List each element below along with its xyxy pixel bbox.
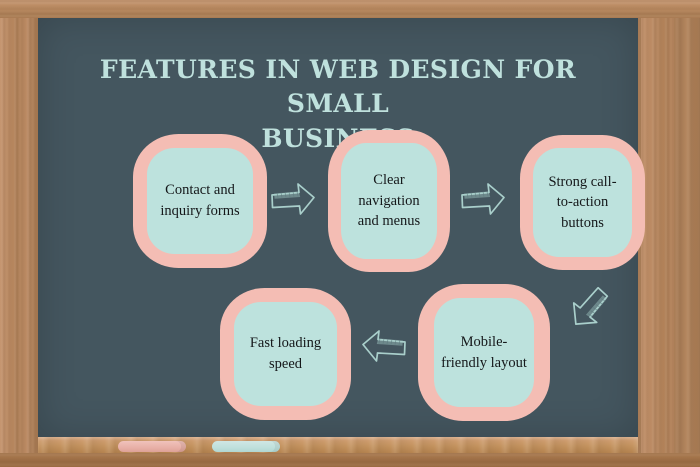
arrow-down-left-icon <box>556 276 612 337</box>
flow-step-contact[interactable]: Contact and inquiry forms <box>133 134 267 268</box>
arrow-left-icon <box>360 328 408 371</box>
flow-step-mobile-label: Mobile- friendly layout <box>418 332 550 373</box>
flow-step-navigation-label: Clear navigation and menus <box>337 170 441 232</box>
chalk-stick-pink[interactable] <box>118 441 186 452</box>
arrow-right-icon-1 <box>269 181 317 224</box>
flow-step-contact-label: Contact and inquiry forms <box>136 180 264 221</box>
chalk-stick-cyan[interactable] <box>212 441 280 452</box>
chalkboard-surface: FEATURES IN WEB DESIGN FOR SMALLBUSINESS… <box>38 18 638 437</box>
frame-bottom-rail <box>0 453 700 467</box>
frame-top-rail <box>0 0 700 18</box>
frame-left-rail <box>0 0 38 467</box>
frame-right-rail <box>638 0 700 467</box>
flow-step-mobile[interactable]: Mobile- friendly layout <box>418 284 550 421</box>
arrow-right-icon-2 <box>459 181 507 224</box>
flow-step-fast-loading-label: Fast loading speed <box>222 333 350 374</box>
flow-step-navigation[interactable]: Clear navigation and menus <box>328 130 450 272</box>
flow-step-fast-loading[interactable]: Fast loading speed <box>220 288 351 420</box>
page-title-line-1: FEATURES IN WEB DESIGN FOR SMALL <box>100 55 576 119</box>
flow-step-cta-label: Strong call- to-action buttons <box>523 172 643 234</box>
infographic-chalkboard-slide: FEATURES IN WEB DESIGN FOR SMALLBUSINESS… <box>0 0 700 467</box>
flow-step-cta[interactable]: Strong call- to-action buttons <box>520 135 645 270</box>
